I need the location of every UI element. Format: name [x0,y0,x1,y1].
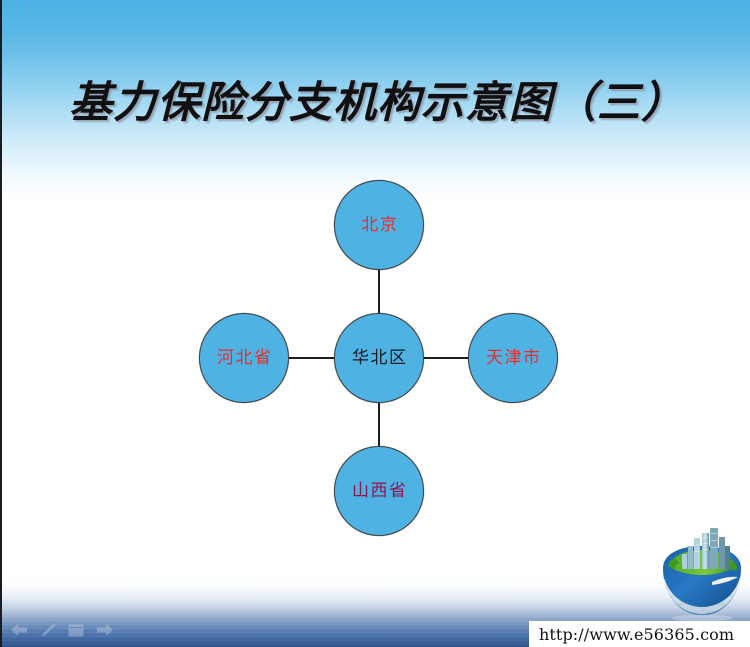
diagram-node-label: 河北省 [216,350,273,367]
diagram-node-label: 华北区 [351,350,408,367]
back-arrow-icon[interactable] [10,623,28,637]
edge-center-to-left [288,357,334,359]
org-diagram: 北京 河北省 华北区 天津市 山西省 [2,0,750,647]
diagram-node-hebei[interactable]: 河北省 [199,313,289,403]
edge-center-to-right [424,357,470,359]
diagram-node-label: 天津市 [485,350,542,367]
presentation-slide: 基力保险分支机构示意图（三） 北京 河北省 华北区 天津市 山西省 [0,0,750,647]
website-url-text: http://www.e56365.com [539,625,734,644]
diagram-node-huabeiqu-center[interactable]: 华北区 [334,313,424,403]
diagram-node-shanxi[interactable]: 山西省 [334,446,424,536]
diagram-node-label: 北京 [360,217,399,234]
pen-icon[interactable] [40,623,56,637]
diagram-node-label: 山西省 [351,483,408,500]
diagram-node-beijing[interactable]: 北京 [334,180,424,270]
menu-icon[interactable] [68,624,84,637]
diagram-node-tianjin[interactable]: 天津市 [468,313,558,403]
globe-city-logo [655,524,749,622]
website-url-bar[interactable]: http://www.e56365.com [529,621,750,647]
forward-arrow-icon[interactable] [96,623,114,637]
edge-center-to-top [378,268,380,314]
edge-center-to-bottom [378,402,380,448]
presentation-nav-controls[interactable] [10,619,118,641]
